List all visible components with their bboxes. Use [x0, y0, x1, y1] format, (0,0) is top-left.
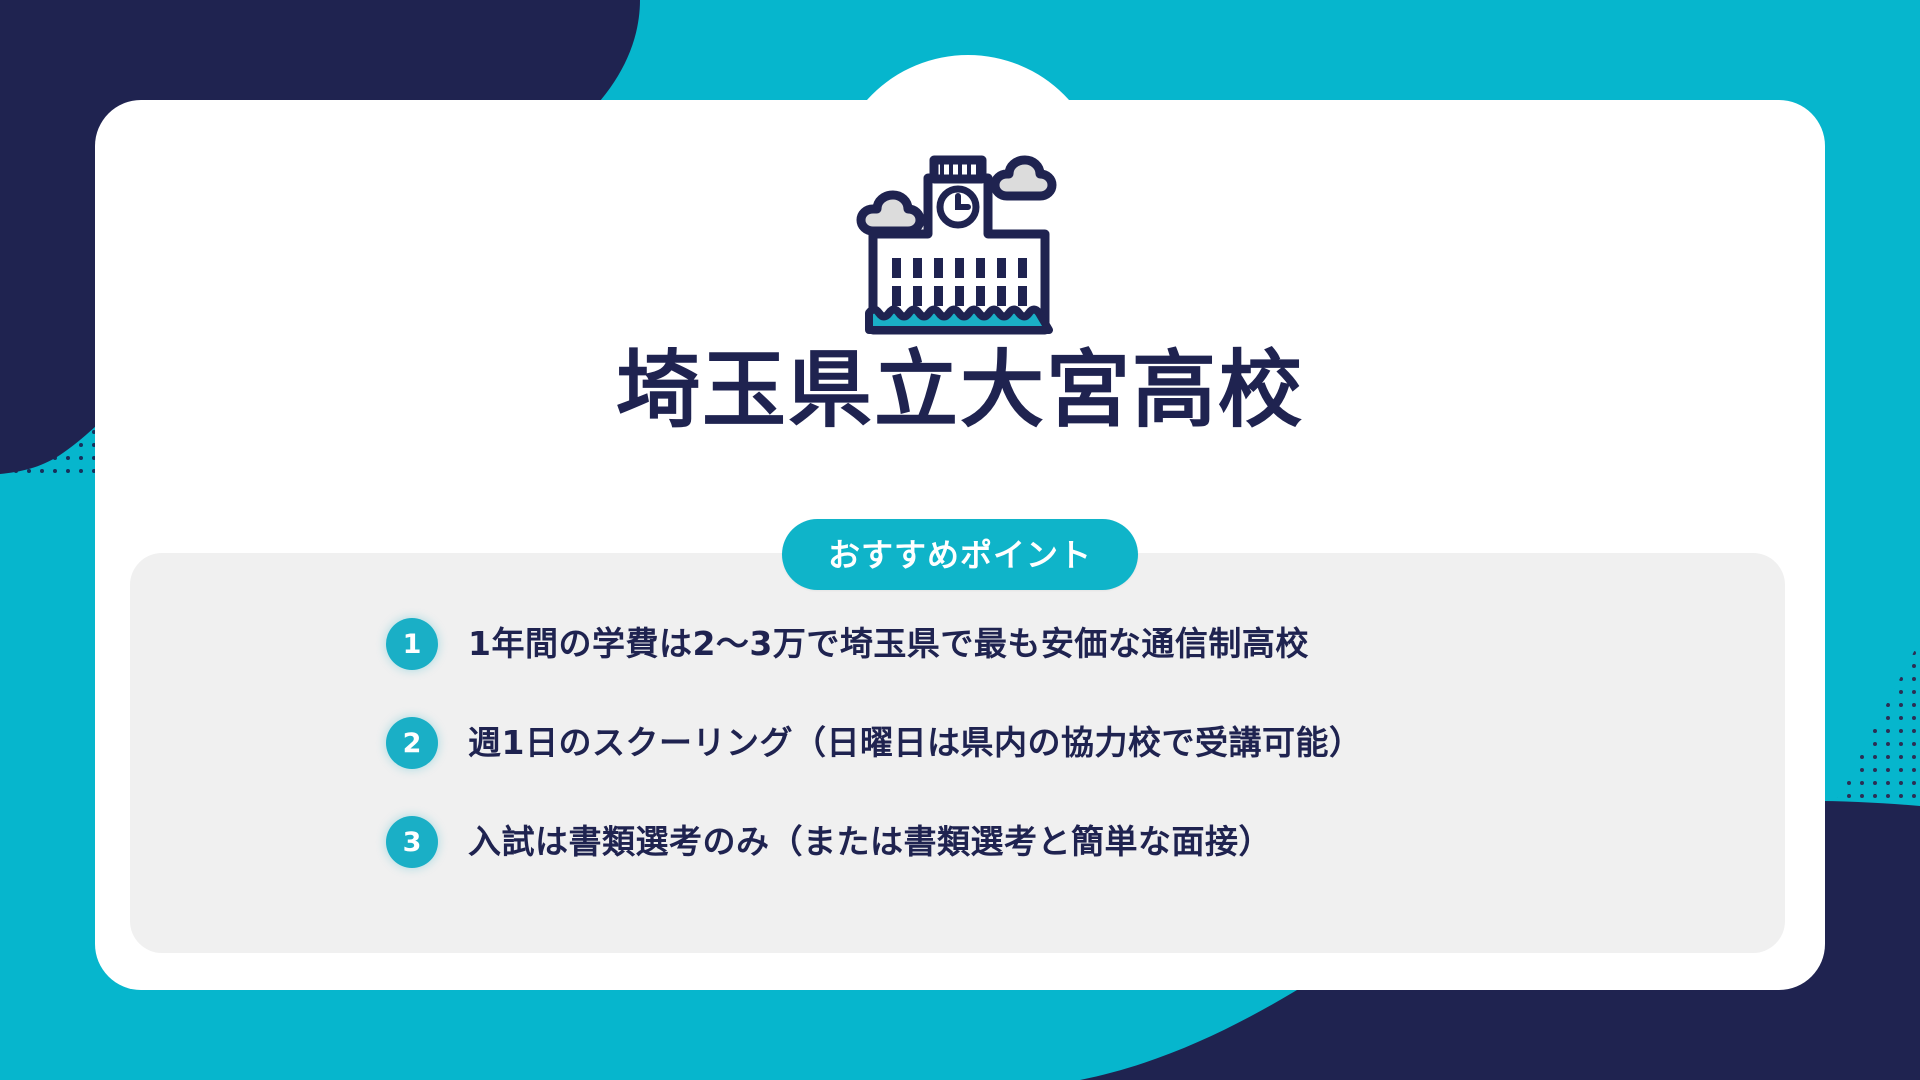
cloud-left-icon — [861, 195, 920, 231]
list-item: 2 週1日のスクーリング（日曜日は県内の協力校で受講可能） — [386, 717, 1726, 769]
building-base — [869, 310, 1049, 331]
school-building-icon — [840, 140, 1080, 335]
points-list: 1 1年間の学費は2〜3万で埼玉県で最も安価な通信制高校 2 週1日のスクーリン… — [386, 618, 1726, 868]
slide-root: 埼玉県立大宮高校 おすすめポイント 1 1年間の学費は2〜3万で埼玉県で最も安価… — [0, 0, 1920, 1080]
list-item: 1 1年間の学費は2〜3万で埼玉県で最も安価な通信制高校 — [386, 618, 1726, 670]
point-number-badge: 3 — [386, 816, 438, 868]
list-item: 3 入試は書類選考のみ（または書類選考と簡単な面接） — [386, 816, 1726, 868]
cloud-right-icon — [995, 160, 1052, 196]
page-title: 埼玉県立大宮高校 — [0, 345, 1920, 436]
school-icon-container — [0, 140, 1920, 335]
point-number-badge: 2 — [386, 717, 438, 769]
point-text: 週1日のスクーリング（日曜日は県内の協力校で受講可能） — [468, 722, 1362, 763]
recommend-points-badge: おすすめポイント — [782, 519, 1138, 590]
point-text: 1年間の学費は2〜3万で埼玉県で最も安価な通信制高校 — [468, 623, 1309, 664]
point-number-badge: 1 — [386, 618, 438, 670]
point-text: 入試は書類選考のみ（または書類選考と簡単な面接） — [468, 821, 1272, 862]
